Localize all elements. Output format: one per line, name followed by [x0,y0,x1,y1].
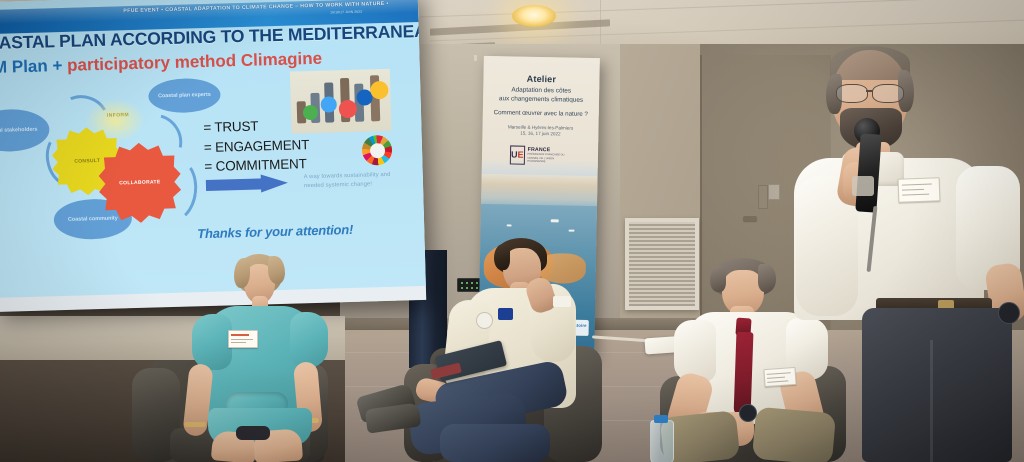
trousers [862,308,1012,462]
france-logo-subtext: PRÉSIDENCE FRANÇAISE DU CONSEIL DE L'UNI… [527,153,572,164]
slide-people-gears-illustration [290,69,392,134]
conference-photo-scene: PFUE EVENT • COASTAL ADAPTATION TO CLIMA… [0,0,1024,462]
banner-line-4: Marseille & Hyères-les-Palmiers 15, 16, … [482,124,598,139]
slide-closing-text: Thanks for your attention! [197,222,353,241]
banner-line-2: Adaptation des côtes aux changements cli… [483,86,599,106]
ceiling-light-icon [512,5,556,27]
banner-boat [507,224,512,226]
sdg-wheel-icon [362,135,393,166]
banner-boat [551,219,559,222]
projection-screen: PFUE EVENT • COASTAL ADAPTATION TO CLIMA… [0,0,426,312]
diagram-oval-stakeholders: Coastal stakeholders [0,108,50,152]
diagram-oval-experts: Coastal plan experts [148,78,221,114]
france-logo: FRANCE PRÉSIDENCE FRANÇAISE DU CONSEIL D… [527,147,572,164]
banner-line-3: Comment œuvrer avec la nature ? [483,109,599,118]
banner-boat [569,230,575,232]
bracelet [184,422,206,427]
name-badge [763,367,796,387]
slide-arrow-caption: A way towards sustainability and needed … [304,170,409,191]
banner-logo-group: UE FRANCE PRÉSIDENCE FRANÇAISE DU CONSEI… [510,144,572,165]
slide-blue-arrow [206,174,288,195]
banner-pole [474,55,477,61]
logo-patch [476,312,493,329]
shirt-pocket [852,176,874,196]
presentation-slide: PFUE EVENT • COASTAL ADAPTATION TO CLIMA… [0,0,426,298]
slide-subtitle-part2: participatory method Climagine [67,49,322,75]
name-badge [228,330,258,348]
eu-flag-patch [498,308,513,320]
banner-title: Atelier [483,73,599,85]
eyeglasses [872,84,904,103]
water-bottle [650,420,674,462]
wristwatch [998,302,1020,324]
name-badge [898,177,941,202]
slide-subtitle-part1: ICZM Plan + [0,56,63,78]
bottle-cap [654,415,668,423]
ue-logo-icon: UE [510,145,525,164]
leg [752,407,836,462]
logo-patch [553,296,571,307]
eyeglasses [836,84,868,103]
wall-vent-grille [625,218,699,310]
